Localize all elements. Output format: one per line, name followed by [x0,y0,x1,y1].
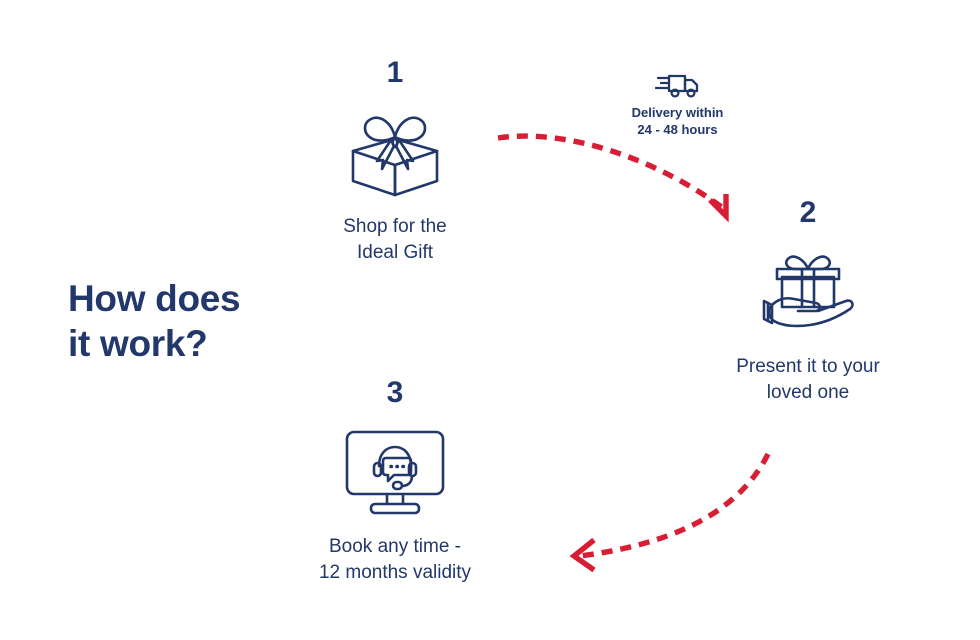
step-2-caption-line-1: Present it to your [678,354,938,380]
step-2-caption-line-2: loved one [678,380,938,406]
how-does-it-work-infographic: How does it work? 1 [0,0,980,640]
arrow-step1-to-step2 [470,110,760,230]
page-title-line-2: it work? [68,321,368,366]
step-3: 3 [265,378,525,586]
step-1-number: 1 [265,58,525,88]
step-3-number: 3 [265,378,525,408]
hand-holding-gift-icon [678,234,938,344]
page-title-line-1: How does [68,276,368,321]
step-3-caption-line-1: Book any time - [265,534,525,560]
step-2-caption: Present it to your loved one [678,354,938,406]
step-3-caption-line-2: 12 months validity [265,560,525,586]
delivery-truck-icon [600,70,755,100]
monitor-support-headset-icon [265,414,525,524]
step-1-caption-line-2: Ideal Gift [265,240,525,266]
page-title: How does it work? [68,276,368,366]
step-3-caption: Book any time - 12 months validity [265,534,525,586]
arrow-step2-to-step3 [530,430,800,580]
